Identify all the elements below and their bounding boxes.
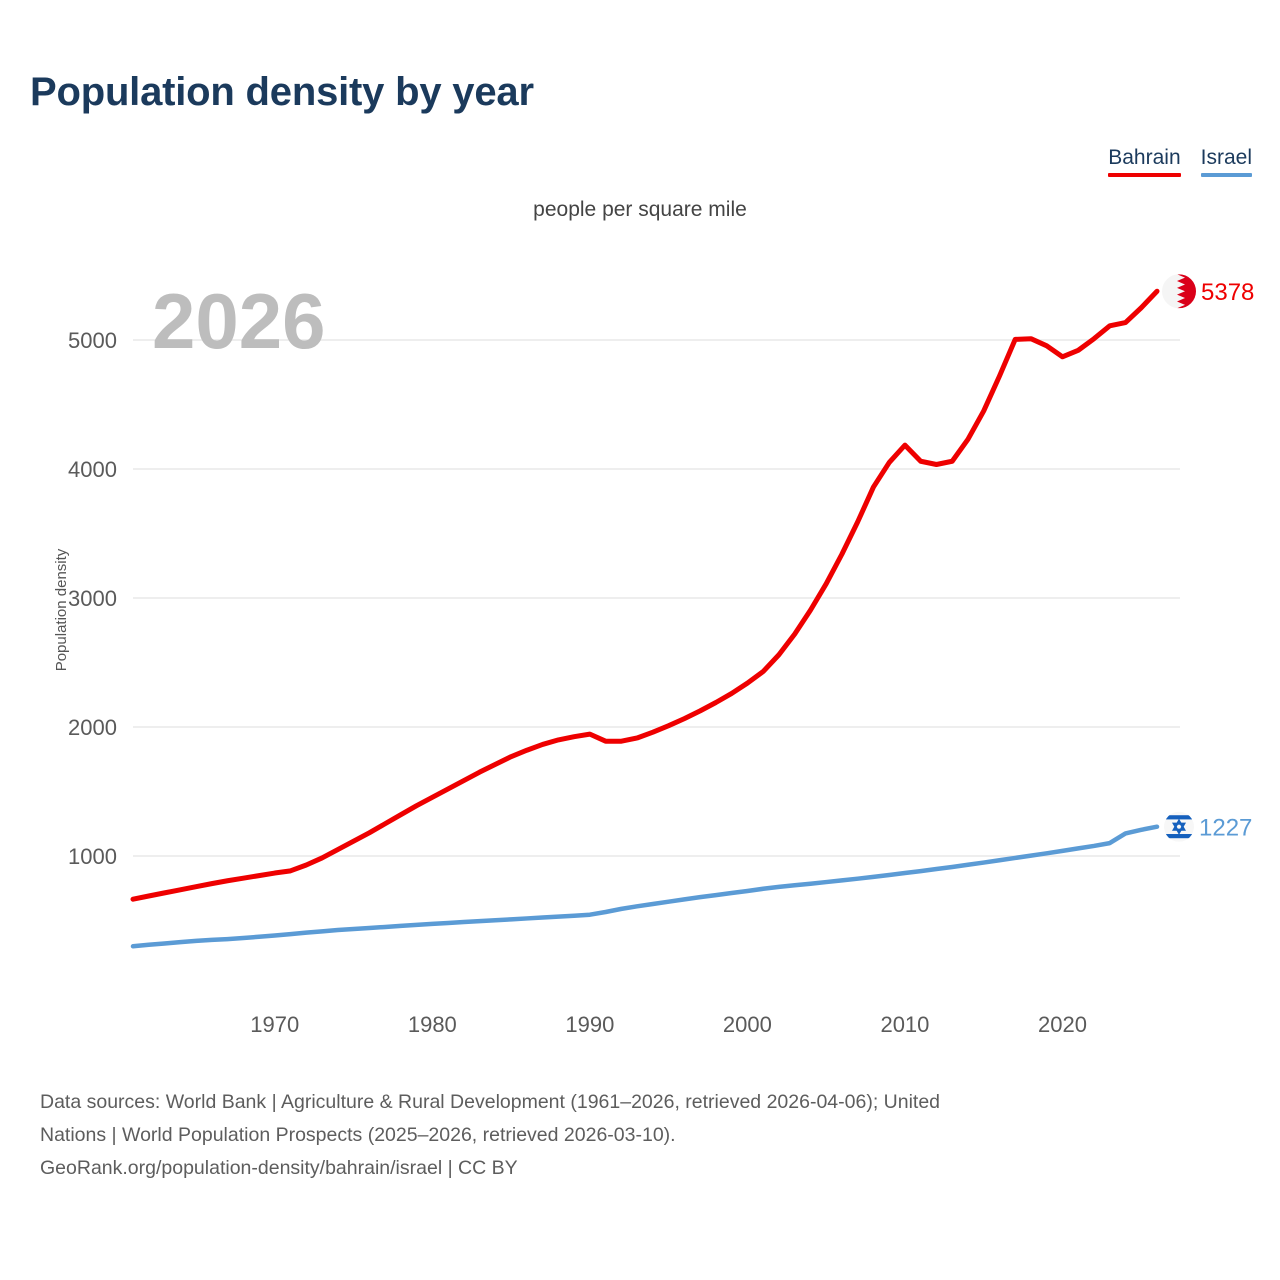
series-lines xyxy=(133,291,1157,946)
x-axis-ticks: 197019801990200020102020 xyxy=(250,1012,1087,1037)
x-tick-label: 1980 xyxy=(408,1012,457,1037)
x-tick-label: 2020 xyxy=(1038,1012,1087,1037)
chart-page: Population density by year Bahrain Israe… xyxy=(0,0,1280,1280)
y-axis-title: Population density xyxy=(53,548,70,671)
series-endpoints: 53781227 xyxy=(1162,274,1254,841)
bahrain-end-value: 5378 xyxy=(1201,279,1254,306)
x-tick-label: 2000 xyxy=(723,1012,772,1037)
y-tick-label: 1000 xyxy=(68,844,117,869)
line-chart[interactable]: 10002000300040005000 1970198019902000201… xyxy=(0,0,1280,1070)
bahrain-flag-icon xyxy=(1162,274,1196,308)
y-tick-label: 4000 xyxy=(68,457,117,482)
footer-line-1: Data sources: World Bank | Agriculture &… xyxy=(40,1086,1255,1119)
series-line-israel[interactable] xyxy=(133,827,1157,947)
gridlines xyxy=(133,340,1180,856)
y-tick-label: 2000 xyxy=(68,715,117,740)
y-tick-label: 3000 xyxy=(68,586,117,611)
israel-end-value: 1227 xyxy=(1199,815,1252,842)
footer-line-2: Nations | World Population Prospects (20… xyxy=(40,1119,1255,1152)
y-tick-label: 5000 xyxy=(68,328,117,353)
israel-flag-icon xyxy=(1164,812,1194,842)
footer-line-3: GeoRank.org/population-density/bahrain/i… xyxy=(40,1152,1255,1185)
x-tick-label: 1990 xyxy=(565,1012,614,1037)
year-watermark: 2026 xyxy=(152,277,326,365)
x-tick-label: 1970 xyxy=(250,1012,299,1037)
footer-credits: Data sources: World Bank | Agriculture &… xyxy=(40,1086,1255,1185)
x-tick-label: 2010 xyxy=(880,1012,929,1037)
series-line-bahrain[interactable] xyxy=(133,291,1157,899)
y-axis-ticks: 10002000300040005000 xyxy=(68,328,117,869)
chart-area: 10002000300040005000 1970198019902000201… xyxy=(0,0,1280,1070)
